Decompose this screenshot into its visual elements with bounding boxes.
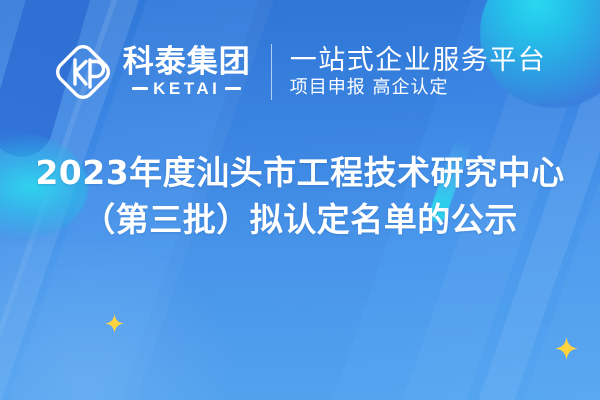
- logo-name-en-row: KETAI: [123, 80, 251, 97]
- page-title-line-2: （第三批）拟认定名单的公示: [0, 197, 600, 244]
- dash-icon: [225, 87, 241, 90]
- logo-name-cn: 科泰集团: [123, 47, 251, 78]
- ketai-diamond-kp-emblem-icon: [54, 43, 112, 101]
- bottom-left-wash-decoration: [0, 240, 250, 400]
- logo-slogan-divider: [271, 44, 272, 100]
- sparkle-star-icon: [555, 337, 578, 360]
- slogan-main: 一站式企业服务平台: [290, 46, 547, 75]
- banner-header: 科泰集团 KETAI 一站式企业服务平台 项目申报 高企认定: [0, 32, 600, 112]
- publicity-banner: 科泰集团 KETAI 一站式企业服务平台 项目申报 高企认定 2023年度汕头市…: [0, 0, 600, 400]
- ketai-wordmark: 科泰集团 KETAI: [123, 47, 251, 97]
- slogan-sub: 项目申报 高企认定: [290, 78, 547, 98]
- slogan-block: 一站式企业服务平台 项目申报 高企认定: [290, 46, 547, 98]
- ketai-logo[interactable]: 科泰集团 KETAI: [54, 43, 251, 101]
- page-title: 2023年度汕头市工程技术研究中心 （第三批）拟认定名单的公示: [0, 150, 600, 244]
- dash-icon: [132, 87, 148, 90]
- page-title-line-1: 2023年度汕头市工程技术研究中心: [0, 150, 600, 197]
- logo-name-en: KETAI: [153, 80, 220, 97]
- sparkle-star-icon: [105, 314, 124, 333]
